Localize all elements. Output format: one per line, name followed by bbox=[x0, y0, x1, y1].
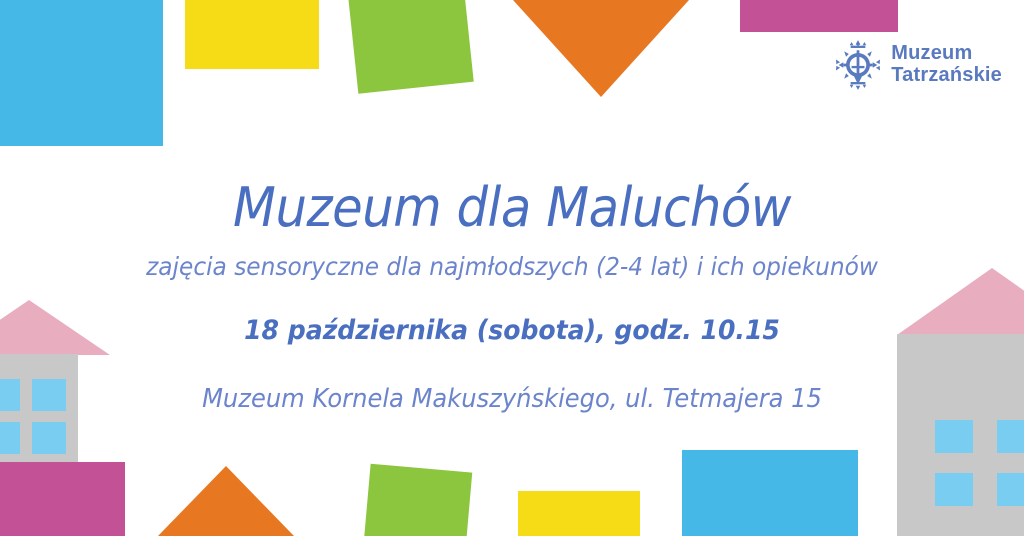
museum-logo: Muzeum Tatrzańskie bbox=[835, 40, 1002, 90]
magenta-rectangle-top bbox=[740, 0, 898, 32]
logo-line-2: Tatrzańskie bbox=[891, 65, 1002, 87]
orange-triangle-bottom bbox=[158, 466, 294, 536]
house-left-window bbox=[0, 422, 20, 454]
blue-rectangle-bottom bbox=[682, 450, 858, 536]
house-right-window bbox=[935, 473, 973, 506]
house-left-window bbox=[32, 422, 66, 454]
magenta-rectangle-bottom-left bbox=[0, 462, 125, 536]
poster-venue: Muzeum Kornela Makuszyńskiego, ul. Tetma… bbox=[36, 384, 988, 414]
green-square-top bbox=[346, 0, 473, 94]
tatra-ornament-icon bbox=[835, 40, 881, 90]
blue-square-top-left bbox=[0, 0, 163, 146]
house-left-window bbox=[0, 379, 20, 411]
logo-line-1: Muzeum bbox=[891, 43, 1002, 65]
museum-logo-text: Muzeum Tatrzańskie bbox=[891, 43, 1002, 86]
house-right-window bbox=[997, 473, 1024, 506]
poster-title: Muzeum dla Maluchów bbox=[41, 176, 983, 239]
poster-subtitle: zajęcia sensoryczne dla najmłodszych (2-… bbox=[36, 252, 988, 281]
orange-triangle-top bbox=[513, 0, 689, 97]
yellow-rectangle-bottom bbox=[518, 491, 640, 536]
poster-date: 18 października (sobota), godz. 10.15 bbox=[36, 315, 988, 346]
house-right-window bbox=[935, 420, 973, 453]
house-right-window bbox=[997, 420, 1024, 453]
poster-canvas: Muzeum Tatrzańskie Muzeum dla Maluchów z… bbox=[0, 0, 1024, 536]
green-square-bottom bbox=[362, 464, 473, 536]
yellow-rectangle-top bbox=[185, 0, 319, 69]
